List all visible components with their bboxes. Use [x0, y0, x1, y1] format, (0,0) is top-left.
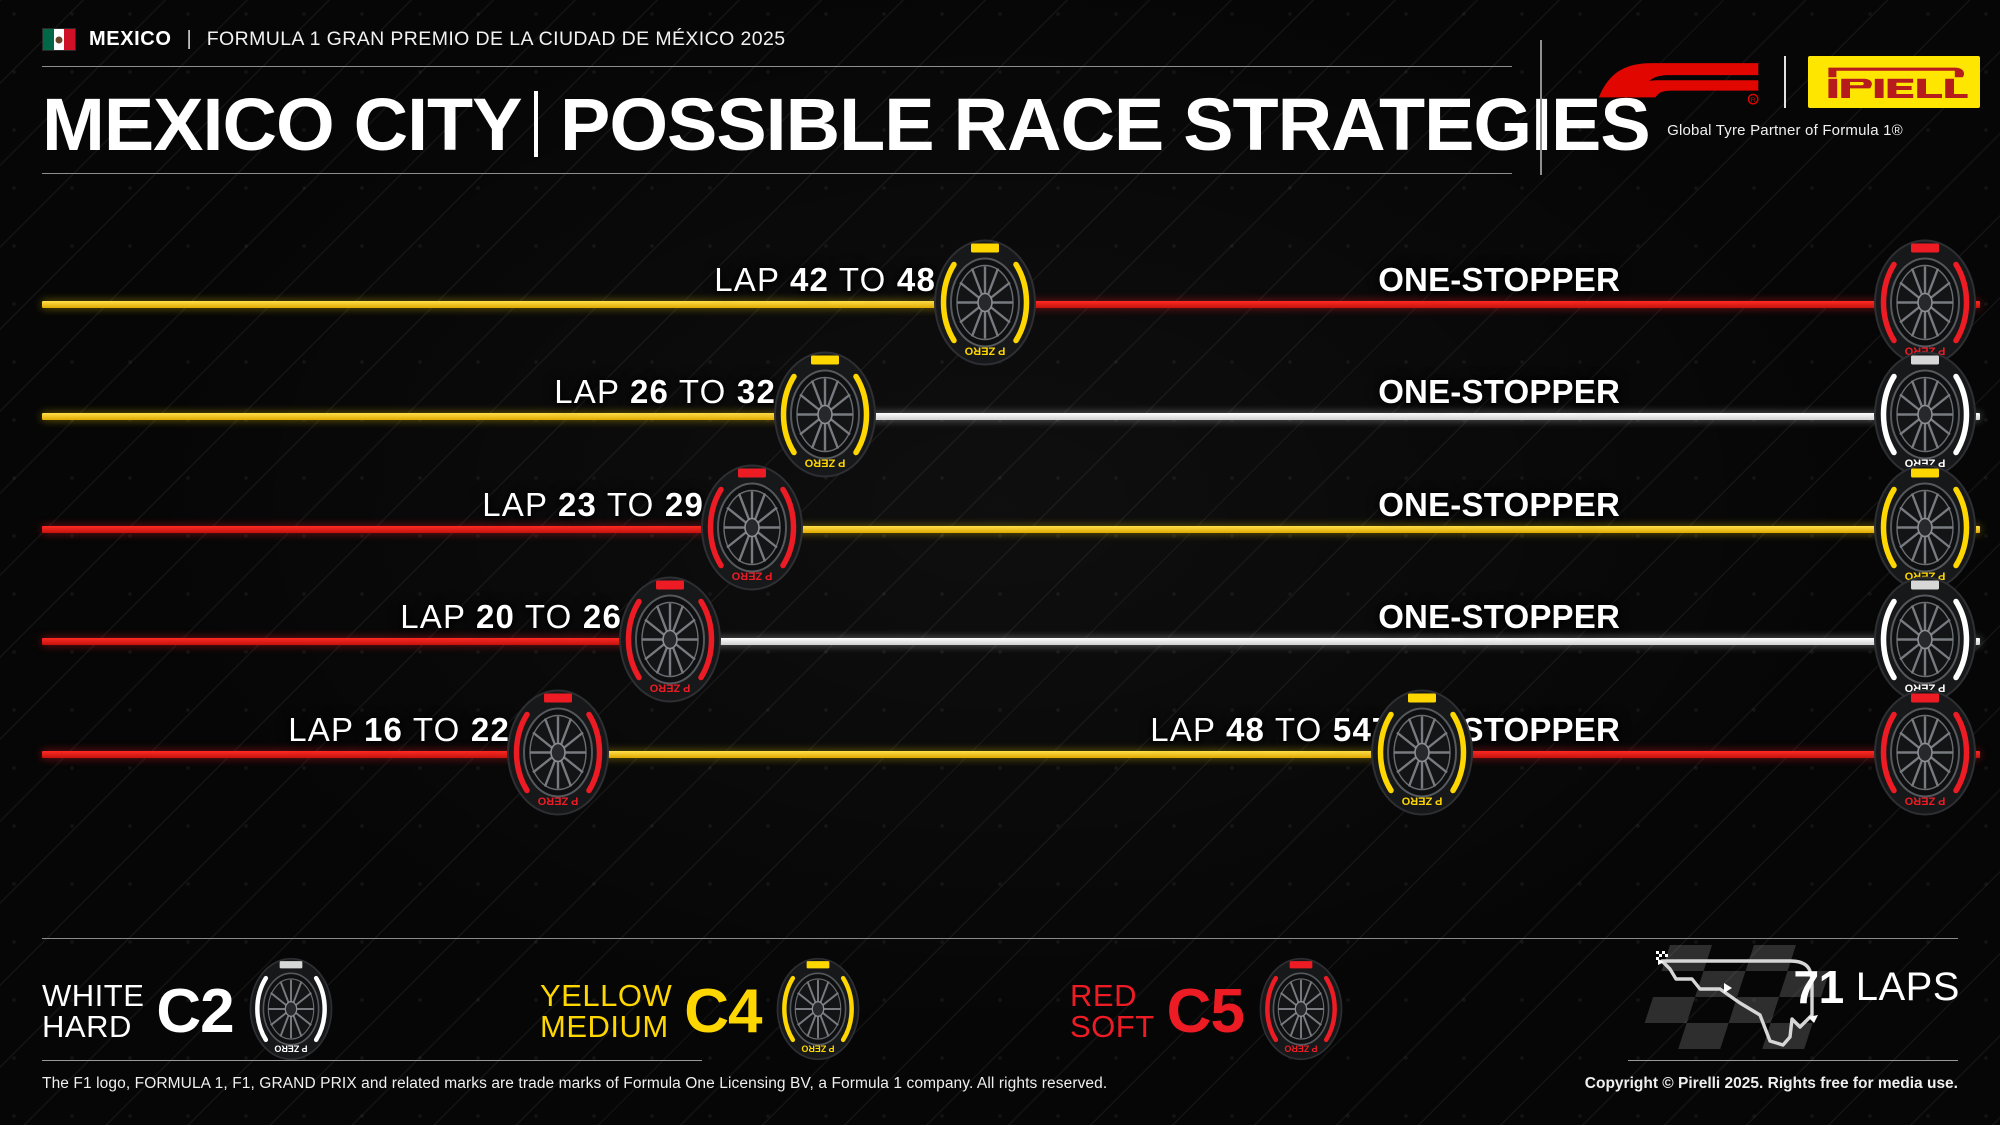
title-divider [534, 91, 538, 157]
legend-hard-text: WHITE HARD [42, 981, 144, 1042]
laps-count: 71 [1794, 960, 1844, 1014]
stint-bar-medium [748, 526, 1980, 533]
strategy-row-5: LAP 16 TO 22 LAP 48 TO 54 TWO-STOPPER [0, 735, 2000, 775]
logo-divider [1784, 56, 1786, 108]
legend-hard-compound: HARD [42, 1012, 144, 1042]
legend-item-hard: WHITE HARD C2 [42, 956, 334, 1067]
stint-bar-soft [980, 301, 1980, 308]
laps-word: LAPS [1856, 965, 1960, 1010]
tyre-icon-soft: P ZERO [617, 576, 723, 709]
svg-text:P ZERO: P ZERO [731, 570, 772, 582]
strategy-row-1: LAP 42 TO 48 ONE-STOPPER [0, 285, 2000, 325]
svg-text:P ZERO: P ZERO [649, 682, 690, 694]
tyre-icon-soft: P ZERO [1258, 956, 1344, 1067]
footer-rule-left [42, 1060, 702, 1061]
strategy-label-1: ONE-STOPPER [1378, 261, 1620, 299]
tyre-icon-soft-final: P ZERO [1872, 689, 1978, 822]
legend-soft-code: C5 [1167, 976, 1244, 1047]
stint-bar-hard [820, 413, 1980, 420]
stint-bar-hard [666, 638, 1980, 645]
legend-rule [42, 938, 1958, 939]
strategy-row-3: LAP 23 TO 29 ONE-STOPPER [0, 510, 2000, 550]
tyre-icon-hard: P ZERO [248, 956, 334, 1067]
mexico-flag-icon [42, 28, 76, 51]
svg-text:P ZERO: P ZERO [804, 457, 845, 469]
legend-medium-compound: MEDIUM [540, 1012, 672, 1042]
svg-text:P ZERO: P ZERO [537, 795, 578, 807]
footer-rule-right [1628, 1060, 1958, 1061]
legend-item-medium: YELLOW MEDIUM C4 [540, 956, 861, 1067]
legend-soft-color: RED [1070, 978, 1137, 1013]
strategies-container: LAP 42 TO 48 ONE-STOPPER [0, 190, 2000, 920]
tyre-icon-medium: P ZERO [1369, 689, 1475, 822]
legend-soft-compound: SOFT [1070, 1012, 1155, 1042]
tyre-icon-soft: P ZERO [505, 689, 611, 822]
race-distance: 71 LAPS [1794, 960, 1960, 1014]
strategy-row-4: LAP 20 TO 26 ONE-STOPPER [0, 622, 2000, 662]
svg-text:P ZERO: P ZERO [1401, 795, 1442, 807]
svg-text:R: R [1751, 97, 1756, 104]
tyre-icon-medium: P ZERO [932, 239, 1038, 372]
legend-item-soft: RED SOFT C5 [1070, 956, 1344, 1067]
svg-text:P ZERO: P ZERO [802, 1044, 835, 1054]
svg-text:P ZERO: P ZERO [1904, 795, 1945, 807]
legend-medium-color: YELLOW [540, 978, 672, 1013]
tyre-icon-medium: P ZERO [775, 956, 861, 1067]
legend-medium-text: YELLOW MEDIUM [540, 981, 672, 1042]
legend-medium-code: C4 [684, 976, 761, 1047]
pirelli-logo [1808, 56, 1980, 108]
f1-logo: R [1590, 58, 1762, 106]
page-title-left: MEXICO CITY [42, 82, 521, 167]
header-country-line: MEXICO | FORMULA 1 GRAN PREMIO DE LA CIU… [42, 28, 785, 51]
stint-bar-medium [554, 751, 1428, 758]
infographic-page: MEXICO | FORMULA 1 GRAN PREMIO DE LA CIU… [0, 0, 2000, 1125]
strategy-label-2: ONE-STOPPER [1378, 373, 1620, 411]
header-vertical-divider [1540, 40, 1542, 175]
header-country: MEXICO [89, 28, 172, 51]
header-divider: | [187, 28, 192, 51]
stint-bar-soft [42, 638, 678, 645]
stint-bar-soft-1 [42, 751, 566, 758]
partner-tagline: Global Tyre Partner of Formula 1® [1590, 122, 1980, 139]
page-title: MEXICO CITY POSSIBLE RACE STRATEGIES [42, 78, 1628, 170]
legend-soft-text: RED SOFT [1070, 981, 1155, 1042]
footer-copyright-text: Copyright © Pirelli 2025. Rights free fo… [1585, 1075, 1958, 1093]
svg-text:P ZERO: P ZERO [274, 1044, 307, 1054]
strategy-label-4: ONE-STOPPER [1378, 598, 1620, 636]
logo-block: R Global Tyre Partner of Formula 1® [1590, 52, 1980, 139]
svg-text:P ZERO: P ZERO [1284, 1044, 1317, 1054]
strategy-label-3: ONE-STOPPER [1378, 486, 1620, 524]
legend-hard-color: WHITE [42, 978, 144, 1013]
legend-hard-code: C2 [156, 976, 233, 1047]
page-title-right: POSSIBLE RACE STRATEGIES [560, 82, 1650, 167]
strategy-row-2: LAP 26 TO 32 ONE-STOPPER [0, 397, 2000, 437]
header-rule-top [42, 66, 1512, 67]
header-event-name: FORMULA 1 GRAN PREMIO DE LA CIUDAD DE MÉ… [207, 28, 786, 51]
footer-trademark-text: The F1 logo, FORMULA 1, F1, GRAND PRIX a… [42, 1075, 1107, 1093]
stint-bar-medium [42, 413, 832, 420]
svg-text:P ZERO: P ZERO [964, 345, 1005, 357]
stint-bar-soft [42, 526, 760, 533]
stint-bar-medium [42, 301, 990, 308]
header-rule-bottom [42, 173, 1512, 174]
